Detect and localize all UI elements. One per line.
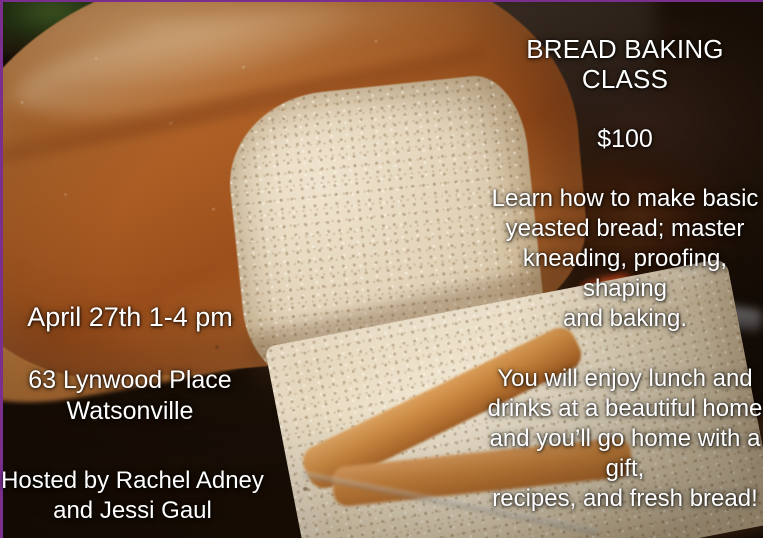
class-description-part-2: You will enjoy lunch and drinks at a bea… bbox=[487, 364, 763, 514]
photo-loaf-crust-crease bbox=[0, 47, 487, 168]
class-address: 63 Lynwood Place Watsonville bbox=[0, 365, 260, 427]
class-price: $100 bbox=[487, 124, 763, 154]
photo-loaf-crust-highlight bbox=[6, 0, 484, 140]
poster-flyer: BREAD BAKING CLASS $100 Learn how to mak… bbox=[0, 0, 763, 538]
poster-title: BREAD BAKING CLASS bbox=[487, 34, 763, 94]
border-left-edge bbox=[0, 0, 3, 538]
photo-loaf-crust-flour bbox=[0, 0, 534, 318]
class-info-block: BREAD BAKING CLASS $100 Learn how to mak… bbox=[487, 4, 763, 538]
photo-crumb-bit bbox=[303, 487, 308, 491]
photo-foliage bbox=[0, 0, 320, 54]
class-date-time: April 27th 1-4 pm bbox=[0, 300, 260, 334]
class-hosts: Hosted by Rachel Adney and Jessi Gaul bbox=[0, 466, 265, 526]
class-description-part-1: Learn how to make basic yeasted bread; m… bbox=[487, 184, 763, 334]
photo-crumb-bit bbox=[215, 345, 219, 349]
border-top-edge bbox=[0, 0, 763, 2]
